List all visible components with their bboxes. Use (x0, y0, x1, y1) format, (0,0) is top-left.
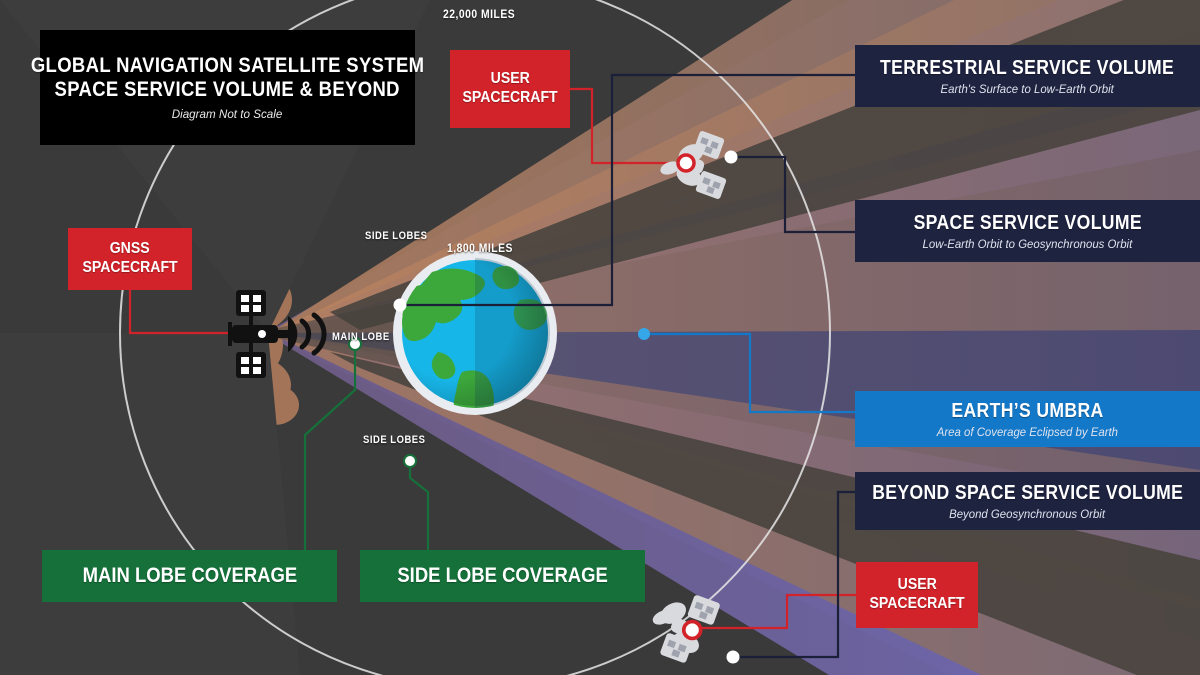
line-umbra (644, 334, 855, 412)
callout-user-spacecraft-bottom[interactable]: USER SPACECRAFT (856, 562, 978, 628)
line-space-volume (731, 157, 855, 232)
panel-subtitle: Earth's Surface to Low-Earth Orbit (941, 82, 1114, 96)
annotation-22000-miles: 22,000 MILES (443, 7, 515, 21)
callout-side-lobe-coverage[interactable]: SIDE LOBE COVERAGE (360, 550, 645, 602)
panel-earths-umbra[interactable]: EARTH’S UMBRA Area of Coverage Eclipsed … (855, 391, 1200, 447)
diagram-canvas: GLOBAL NAVIGATION SATELLITE SYSTEM SPACE… (0, 0, 1200, 675)
callout-label: MAIN LOBE COVERAGE (82, 564, 297, 589)
callout-label: SIDE LOBE COVERAGE (397, 564, 607, 589)
panel-subtitle: Beyond Geosynchronous Orbit (950, 507, 1106, 521)
callout-line-2: SPACECRAFT (82, 259, 177, 278)
callout-line-1: GNSS (110, 240, 150, 259)
panel-title: TERRESTRIAL SERVICE VOLUME (880, 57, 1174, 80)
annotation-side-lobes-lower: SIDE LOBES (363, 434, 425, 446)
title-line-2: SPACE SERVICE VOLUME & BEYOND (55, 78, 400, 102)
dot-umbra (638, 328, 650, 340)
panel-title: EARTH’S UMBRA (951, 400, 1103, 423)
annotation-main-lobe: MAIN LOBE (332, 331, 390, 343)
dot-side-lobe (404, 455, 416, 467)
callout-line-1: USER (490, 70, 529, 89)
title-note: Diagram Not to Scale (172, 107, 283, 121)
callout-main-lobe-coverage[interactable]: MAIN LOBE COVERAGE (42, 550, 337, 602)
panel-title: BEYOND SPACE SERVICE VOLUME (872, 482, 1183, 505)
callout-line-1: USER (897, 576, 936, 595)
callout-line-2: SPACECRAFT (869, 595, 964, 614)
title-line-1: GLOBAL NAVIGATION SATELLITE SYSTEM (31, 54, 425, 78)
annotation-side-lobes-upper: SIDE LOBES (365, 230, 427, 242)
panel-space-service-volume[interactable]: SPACE SERVICE VOLUME Low-Earth Orbit to … (855, 200, 1200, 262)
panel-title: SPACE SERVICE VOLUME (913, 212, 1141, 235)
callout-gnss-spacecraft[interactable]: GNSS SPACECRAFT (68, 228, 192, 290)
user-satellite-icon-bottom (650, 592, 726, 668)
dot-terrestrial (394, 299, 407, 312)
annotation-1800-miles: 1,800 MILES (447, 241, 513, 255)
panel-subtitle: Low-Earth Orbit to Geosynchronous Orbit (923, 237, 1133, 251)
panel-terrestrial-service-volume[interactable]: TERRESTRIAL SERVICE VOLUME Earth's Surfa… (855, 45, 1200, 107)
dot-beyond (727, 651, 740, 664)
panel-subtitle: Area of Coverage Eclipsed by Earth (937, 425, 1118, 439)
line-side-lobe (410, 465, 428, 552)
callout-line-2: SPACECRAFT (462, 89, 557, 108)
panel-beyond-space-service-volume[interactable]: BEYOND SPACE SERVICE VOLUME Beyond Geosy… (855, 472, 1200, 530)
callout-user-spacecraft-top[interactable]: USER SPACECRAFT (450, 50, 570, 128)
line-beyond (733, 492, 855, 657)
title-block: GLOBAL NAVIGATION SATELLITE SYSTEM SPACE… (40, 30, 415, 145)
user-satellite-icon-top (658, 130, 730, 202)
gnss-satellite-icon (222, 288, 332, 380)
